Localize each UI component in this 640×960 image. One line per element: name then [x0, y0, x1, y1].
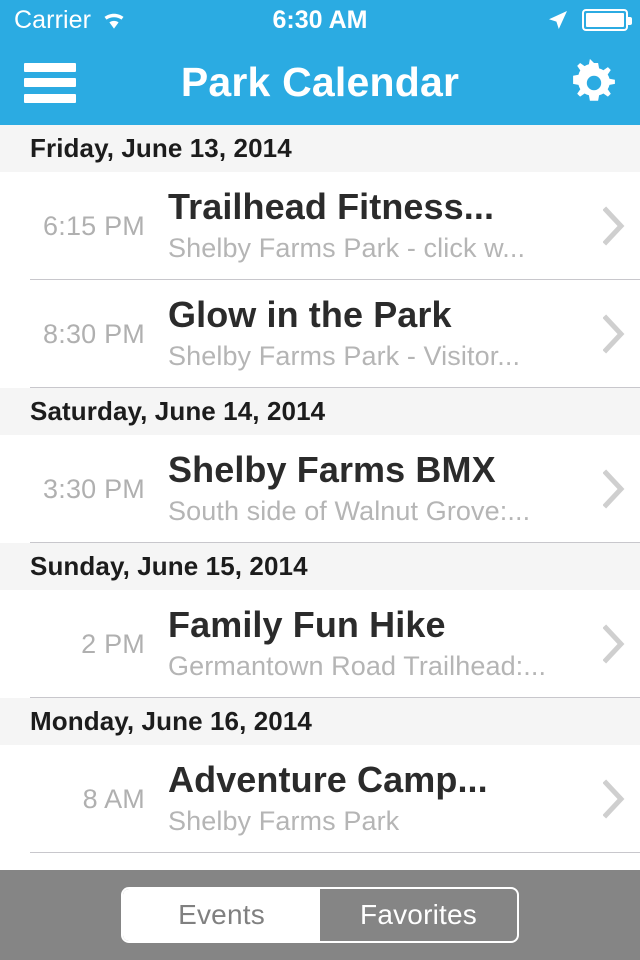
event-location: Shelby Farms Park - Visitor... [168, 341, 580, 372]
app-screen: Carrier 6:30 AM Park Calendar [0, 0, 640, 960]
event-list-item[interactable]: 6:15 PM Trailhead Fitness... Shelby Farm… [0, 172, 640, 280]
wifi-icon [101, 10, 127, 30]
event-title: Trailhead Fitness... [168, 188, 580, 227]
date-section-header: Sunday, June 15, 2014 [0, 543, 640, 590]
event-title: Family Fun Hike [168, 606, 580, 645]
hamburger-bar [24, 94, 76, 103]
hamburger-bar [24, 63, 76, 72]
event-title: Adventure Camp... [168, 761, 580, 800]
tab-favorites[interactable]: Favorites [320, 889, 517, 941]
date-section-header: Saturday, June 14, 2014 [0, 388, 640, 435]
date-section-header: Friday, June 13, 2014 [0, 125, 640, 172]
bottom-tab-bar: Events Favorites [0, 870, 640, 960]
event-list-item[interactable]: 8:30 PM Glow in the Park Shelby Farms Pa… [0, 280, 640, 388]
event-list-item[interactable]: 8 AM Adventure Camp... Shelby Farms Park [0, 745, 640, 853]
event-details: Family Fun Hike Germantown Road Trailhea… [145, 606, 588, 682]
settings-button[interactable] [570, 40, 618, 125]
disclosure-indicator[interactable] [588, 314, 640, 354]
menu-button[interactable] [24, 40, 76, 125]
event-location: South side of Walnut Grove:... [168, 496, 580, 527]
event-title: Shelby Farms BMX [168, 451, 580, 490]
page-title: Park Calendar [181, 59, 459, 106]
hamburger-bar [24, 78, 76, 87]
status-bar: Carrier 6:30 AM [0, 0, 640, 40]
chevron-right-icon [603, 469, 625, 509]
chevron-right-icon [603, 206, 625, 246]
navigation-bar: Park Calendar [0, 40, 640, 125]
event-details: Glow in the Park Shelby Farms Park - Vis… [145, 296, 588, 372]
gear-icon[interactable] [570, 59, 618, 107]
disclosure-indicator[interactable] [588, 624, 640, 664]
event-details: Shelby Farms BMX South side of Walnut Gr… [145, 451, 588, 527]
disclosure-indicator[interactable] [588, 779, 640, 819]
event-location: Shelby Farms Park [168, 806, 580, 837]
carrier-label: Carrier [14, 6, 91, 35]
location-arrow-icon [546, 8, 570, 32]
event-location: Germantown Road Trailhead:... [168, 651, 580, 682]
event-location: Shelby Farms Park - click w... [168, 233, 580, 264]
event-time: 8 AM [0, 784, 145, 815]
event-list-item[interactable]: 2 PM Family Fun Hike Germantown Road Tra… [0, 590, 640, 698]
events-list[interactable]: Friday, June 13, 2014 6:15 PM Trailhead … [0, 125, 640, 960]
disclosure-indicator[interactable] [588, 469, 640, 509]
event-time: 8:30 PM [0, 319, 145, 350]
chevron-right-icon [603, 779, 625, 819]
hamburger-menu-icon[interactable] [24, 63, 76, 103]
status-bar-right [546, 0, 628, 40]
event-time: 2 PM [0, 629, 145, 660]
event-details: Trailhead Fitness... Shelby Farms Park -… [145, 188, 588, 264]
event-title: Glow in the Park [168, 296, 580, 335]
event-details: Adventure Camp... Shelby Farms Park [145, 761, 588, 837]
event-time: 6:15 PM [0, 211, 145, 242]
event-time: 3:30 PM [0, 474, 145, 505]
tab-events[interactable]: Events [123, 889, 320, 941]
battery-fill [586, 13, 624, 27]
disclosure-indicator[interactable] [588, 206, 640, 246]
segmented-control[interactable]: Events Favorites [121, 887, 519, 943]
chevron-right-icon [603, 624, 625, 664]
event-list-item[interactable]: 3:30 PM Shelby Farms BMX South side of W… [0, 435, 640, 543]
battery-full-icon [582, 9, 628, 31]
chevron-right-icon [603, 314, 625, 354]
status-bar-left: Carrier [0, 6, 127, 35]
date-section-header: Monday, June 16, 2014 [0, 698, 640, 745]
